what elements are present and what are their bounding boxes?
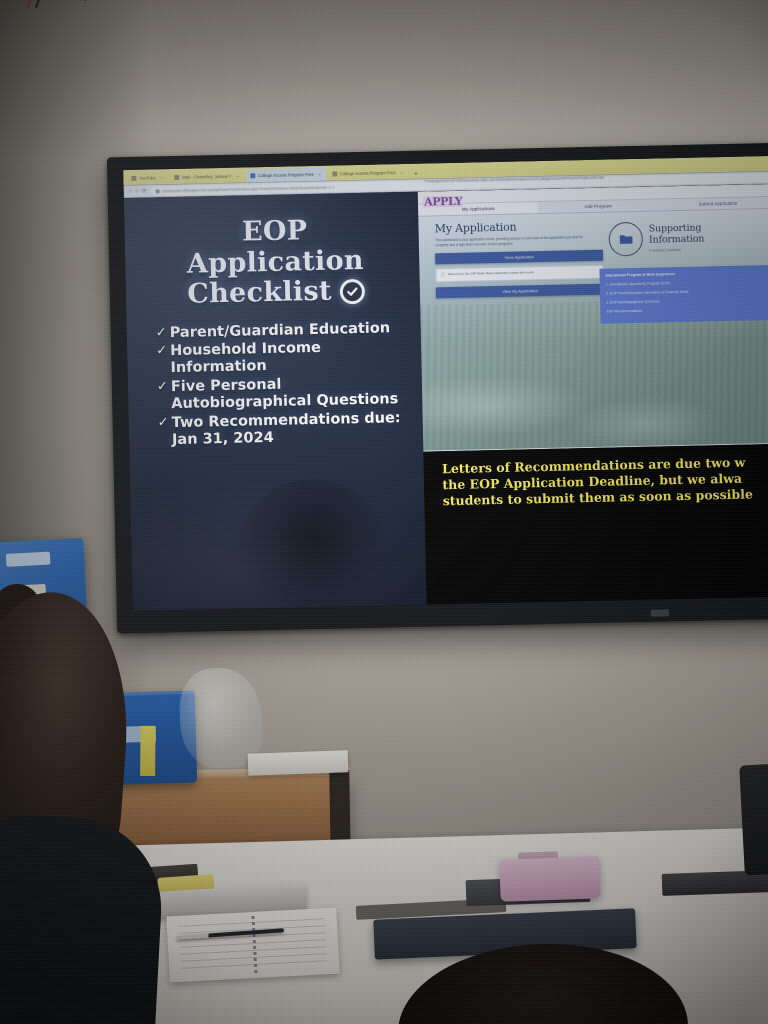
classroom-scene: YouTube × Mail - Chowdhry, Jameel T × Co…	[0, 0, 768, 1024]
supporting-sections-status: 0 Sections Completed	[649, 247, 704, 252]
site-alert-text: Welcome to the CAP Water Basin applicati…	[448, 270, 535, 278]
info-icon: ⓘ	[441, 272, 445, 278]
lock-icon	[156, 189, 160, 193]
browser-tab-label: YouTube	[139, 175, 156, 180]
bin-yellow-tag	[140, 726, 155, 776]
pink-container	[499, 856, 600, 901]
folder-icon	[618, 231, 634, 247]
site-body: My Application This dashboard is your ap…	[419, 209, 768, 451]
close-tab-icon[interactable]: ×	[318, 172, 320, 177]
reload-icon[interactable]: ⟳	[142, 188, 147, 194]
slide-title-line-3: Checklist	[187, 277, 332, 311]
program-sections-panel: Educational Program & Work Experience 1.…	[600, 265, 768, 324]
paper-stack-on-credenza	[248, 750, 349, 775]
site-body-text: This dashboard is your application home,…	[435, 235, 590, 249]
supporting-information-block: Supporting Information 0 Sections Comple…	[609, 219, 768, 257]
checklist-item: Household Income Information	[157, 338, 412, 377]
view-application-button[interactable]: View My Application	[436, 284, 604, 299]
browser-tab-label: College Access Program Pres	[340, 170, 396, 176]
slide-caption: Letters of Recommendations are due two w…	[424, 444, 768, 605]
slide-title-line-3-row: Checklist	[187, 276, 365, 310]
browser-tab-label: College Access Program Pres	[258, 172, 314, 178]
website-screenshot: SUNY · APPLY My Applications Add Program…	[418, 184, 768, 452]
panel-item[interactable]: 3. EOP Autobiographical Questions	[606, 297, 768, 305]
browser-tab-label: Mail - Chowdhry, Jameel T	[182, 174, 232, 180]
wall-mounted-display: YouTube × Mail - Chowdhry, Jameel T × Co…	[107, 143, 768, 634]
site-alert: ⓘ Welcome to the CAP Water Basin applica…	[436, 265, 604, 283]
favicon-icon	[174, 175, 179, 180]
bin-label-slot	[6, 552, 51, 567]
checklist: Parent/Guardian Education Household Inco…	[143, 319, 414, 449]
checklist-item: Five Personal Autobiographical Questions	[158, 374, 413, 413]
powerpoint-slide: EOP Application Checklist Pare	[124, 184, 768, 611]
cable-bundle-icon	[22, 0, 92, 8]
panel-header: Educational Program & Work Experience	[606, 270, 768, 278]
display-screen: YouTube × Mail - Chowdhry, Jameel T × Co…	[123, 156, 768, 611]
slide-title-line-2: Application	[141, 244, 410, 280]
checklist-item: Two Recommendations due: Jan 31, 2024	[159, 410, 414, 449]
close-tab-icon[interactable]: ×	[237, 174, 239, 179]
panel-item[interactable]: 2. EOP Parent/Guardian Information & Fin…	[606, 288, 768, 296]
url-text: powerpoint.officeapps.live.com/p/PowerPo…	[163, 185, 335, 193]
slide-left-panel: EOP Application Checklist Pare	[124, 192, 427, 611]
slide-title: EOP Application Checklist	[140, 214, 410, 311]
back-icon[interactable]: ‹	[130, 188, 132, 194]
supporting-information-text: Supporting Information 0 Sections Comple…	[649, 224, 705, 252]
apply-logo: APPLY	[423, 196, 463, 208]
favicon-icon	[332, 171, 337, 176]
favicon-icon	[250, 173, 255, 178]
check-circle-icon	[339, 279, 365, 305]
slide-right-panel: SUNY · APPLY My Applications Add Program…	[418, 184, 768, 605]
site-heading: My Application	[435, 219, 603, 236]
progress-ring	[609, 222, 644, 257]
close-tab-icon[interactable]: ×	[400, 170, 402, 175]
supporting-heading-line-2: Information	[649, 234, 705, 246]
save-application-button[interactable]: Save Application	[435, 250, 603, 265]
tv-brand-logo	[651, 609, 669, 616]
site-column-left: My Application This dashboard is your ap…	[423, 219, 605, 303]
forward-icon[interactable]: ›	[136, 188, 138, 194]
browser-tab[interactable]: YouTube ×	[127, 171, 168, 185]
open-notebook	[166, 908, 339, 983]
chair-right	[739, 763, 768, 876]
panel-item[interactable]: EOP Recommendations	[606, 306, 768, 314]
panel-item[interactable]: 1. Educational Opportunity Program (EOP)	[606, 279, 768, 287]
close-tab-icon[interactable]: ×	[161, 175, 163, 180]
favicon-icon	[131, 176, 136, 181]
